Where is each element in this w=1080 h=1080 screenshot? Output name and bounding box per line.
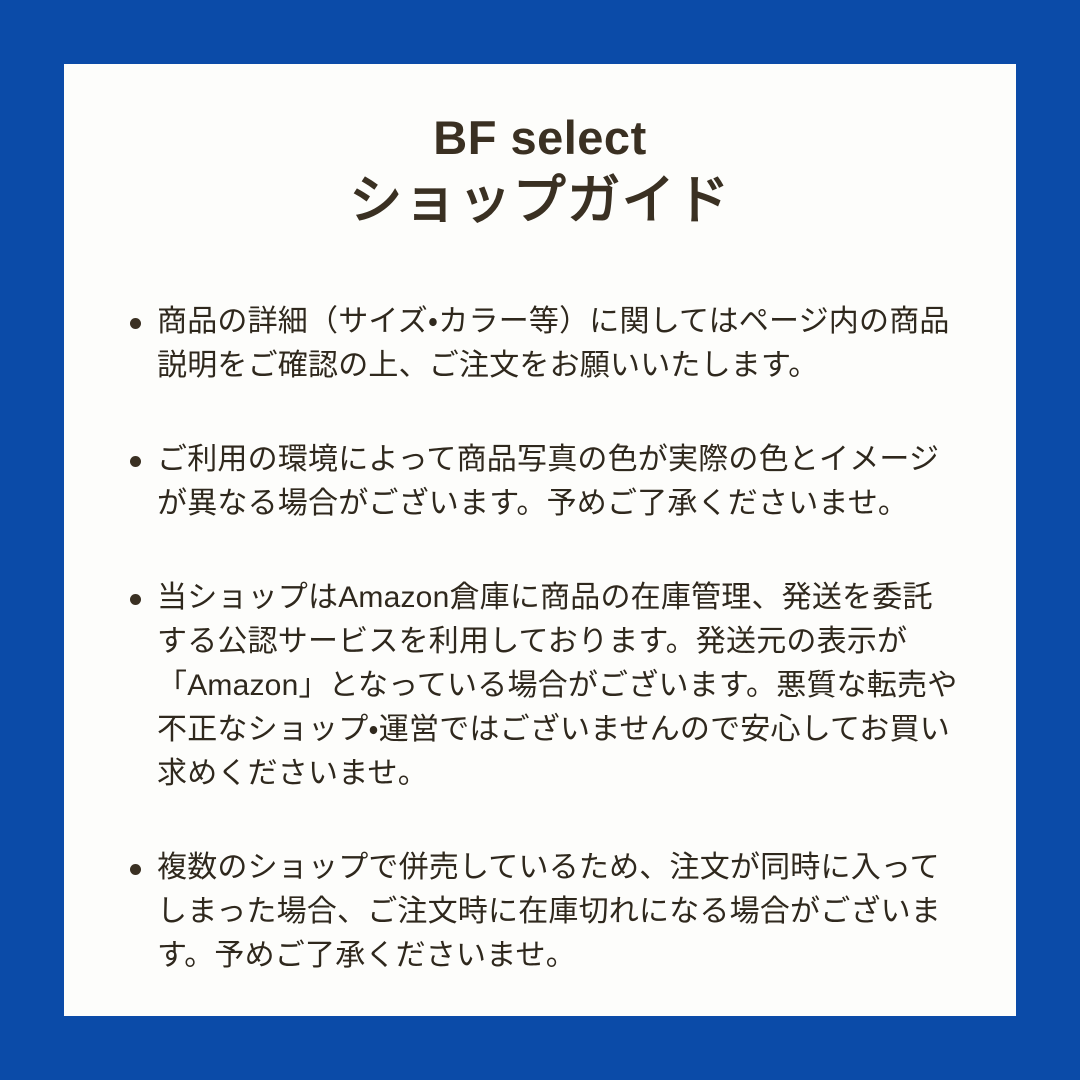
list-item-text: 商品の詳細（サイズ・カラー等）に関してはページ内の商品説明をご確認の上、ご注文を… [157,300,962,388]
list-item: 複数のショップで併売しているため、注文が同時に入ってしまった場合、ご注文時に在庫… [64,846,1016,978]
bullet-dot-icon [130,456,141,467]
list-item-text: 複数のショップで併売しているため、注文が同時に入ってしまった場合、ご注文時に在庫… [157,846,962,978]
bullet-dot-icon [130,864,141,875]
list-item: 当ショップはAmazon倉庫に商品の在庫管理、発送を委託する公認サービスを利用し… [64,576,1016,796]
blue-frame: BF select ショップガイド 商品の詳細（サイズ・カラー等）に関してはペー… [0,0,1080,1080]
page-title: BF select ショップガイド [64,64,1016,234]
title-brand: BF select [64,110,1016,165]
bullet-dot-icon [130,594,141,605]
title-subtitle: ショップガイド [64,165,1016,234]
guide-list: 商品の詳細（サイズ・カラー等）に関してはページ内の商品説明をご確認の上、ご注文を… [64,234,1016,978]
guide-card: BF select ショップガイド 商品の詳細（サイズ・カラー等）に関してはペー… [64,64,1016,1016]
list-item-text: ご利用の環境によって商品写真の色が実際の色とイメージが異なる場合がございます。予… [157,438,962,526]
bullet-dot-icon [130,318,141,329]
list-item: 商品の詳細（サイズ・カラー等）に関してはページ内の商品説明をご確認の上、ご注文を… [64,300,1016,388]
list-item-text: 当ショップはAmazon倉庫に商品の在庫管理、発送を委託する公認サービスを利用し… [157,576,962,796]
list-item: ご利用の環境によって商品写真の色が実際の色とイメージが異なる場合がございます。予… [64,438,1016,526]
